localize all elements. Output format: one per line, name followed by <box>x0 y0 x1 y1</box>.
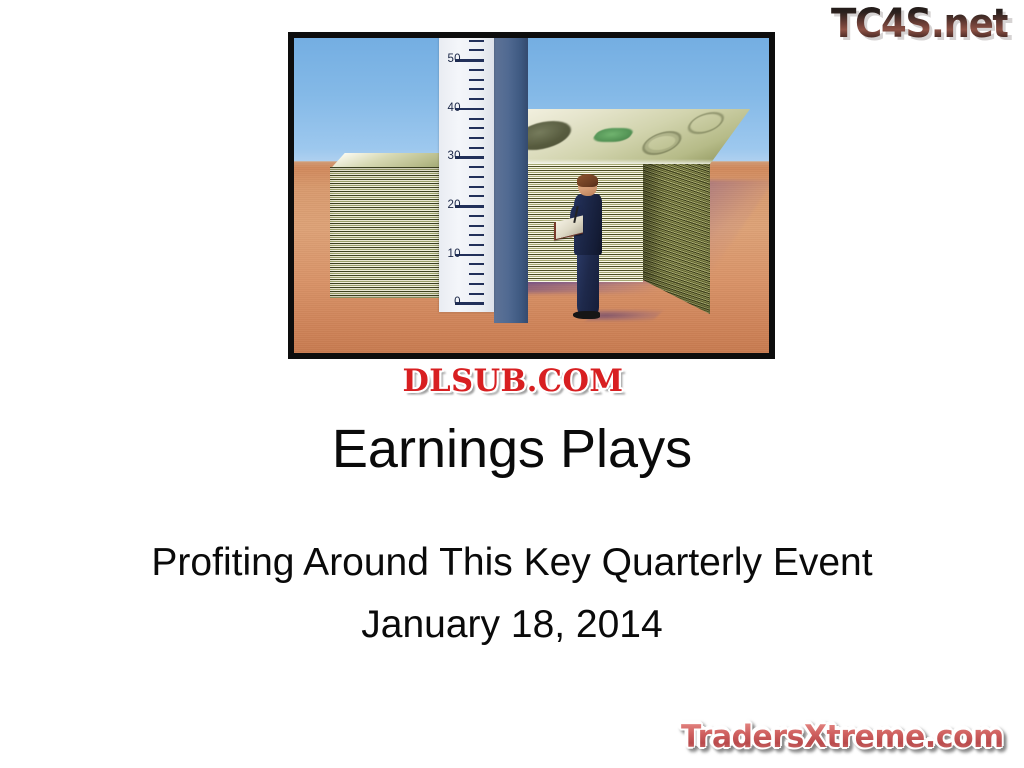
ruler-tick-minor <box>469 118 483 120</box>
ruler-tick-label: 20 <box>437 199 461 211</box>
money-stack-left <box>330 167 449 298</box>
ruler-tick-minor <box>469 79 483 81</box>
businessman-figure <box>567 177 610 319</box>
businessman-shoe <box>573 311 600 319</box>
illustration-frame: 50403020100 <box>288 32 775 359</box>
ruler-tick-minor <box>469 195 483 197</box>
ruler-tick-minor <box>469 215 483 217</box>
ruler-tick-minor <box>469 98 483 100</box>
ruler: 50403020100 <box>439 38 494 312</box>
ruler-tick-label: 10 <box>437 248 461 260</box>
bill-treasury-seal <box>590 128 636 142</box>
dlsub-watermark: DLSUB.COM <box>371 362 655 402</box>
ruler-tick-minor <box>469 293 483 295</box>
ruler-tick-minor <box>469 186 483 188</box>
ruler-tick-minor <box>469 166 483 168</box>
ruler-tick-minor <box>469 49 483 51</box>
ruler-tick-label: 50 <box>437 53 461 65</box>
ruler-tick-minor <box>469 273 483 275</box>
ruler-edge <box>494 38 528 323</box>
businessman-legs <box>577 252 599 313</box>
bill-scrollwork-secondary <box>682 112 730 134</box>
illustration-canvas: 50403020100 <box>294 38 769 353</box>
ruler-tick-minor <box>469 69 483 71</box>
ruler-tick-label: 0 <box>437 296 461 308</box>
ruler-tick-minor <box>469 263 483 265</box>
ruler-tick-label: 40 <box>437 102 461 114</box>
ruler-tick-minor <box>469 127 483 129</box>
page-subtitle: Profiting Around This Key Quarterly Even… <box>0 538 1024 588</box>
ruler-tick-minor <box>469 176 483 178</box>
ruler-tick-minor <box>469 244 483 246</box>
ruler-tick-label: 30 <box>437 150 461 162</box>
ruler-tick-minor <box>469 137 483 139</box>
ruler-tick-minor <box>469 147 483 149</box>
ruler-tick-minor <box>469 283 483 285</box>
ruler-tick-minor <box>469 40 483 42</box>
ruler-tick-minor <box>469 225 483 227</box>
page-date: January 18, 2014 <box>0 600 1024 650</box>
businessman-hair <box>577 174 598 186</box>
ruler-tick-minor <box>469 88 483 90</box>
bill-scrollwork <box>636 131 688 155</box>
tc4s-watermark: TC4S.net <box>831 2 1008 48</box>
tradersxtreme-watermark: TradersXtreme.com <box>681 717 1007 759</box>
page-title: Earnings Plays <box>0 418 1024 480</box>
ruler-tick-minor <box>469 234 483 236</box>
